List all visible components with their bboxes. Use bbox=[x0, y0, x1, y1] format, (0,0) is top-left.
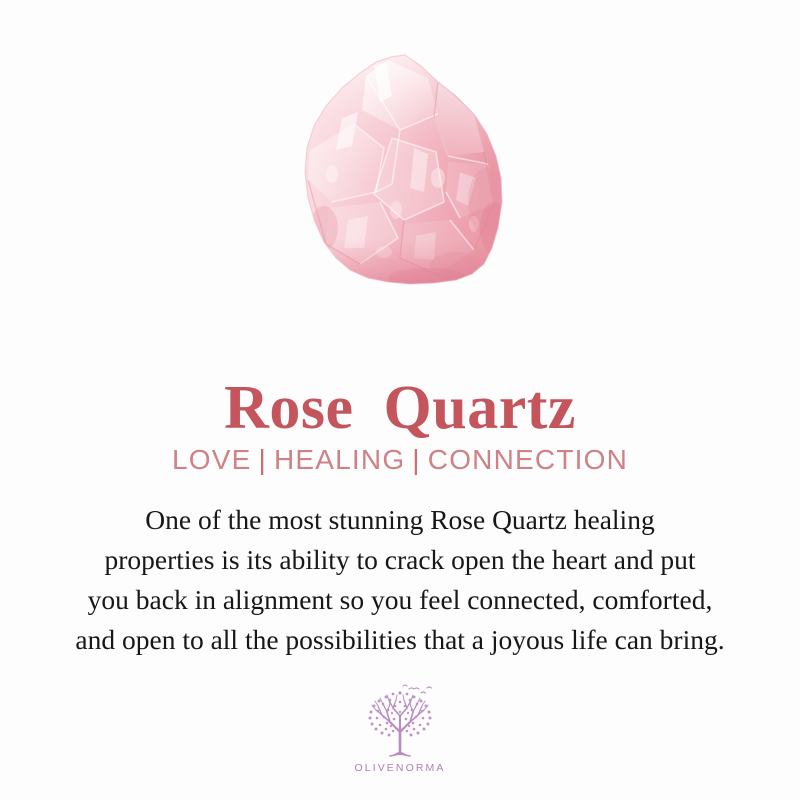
keyword-separator-2: | bbox=[405, 444, 427, 475]
tree-of-life-icon bbox=[357, 684, 443, 760]
keyword-love: LOVE bbox=[172, 444, 252, 475]
brand-wordmark: OLIVENORMA bbox=[354, 762, 445, 774]
description-line-4: and open to all the possibilities that a… bbox=[20, 620, 780, 660]
rose-quartz-crystal-image bbox=[288, 52, 512, 288]
description-line-1: One of the most stunning Rose Quartz hea… bbox=[20, 500, 780, 540]
description-text: One of the most stunning Rose Quartz hea… bbox=[20, 500, 780, 660]
product-card: Rose Quartz LOVE|HEALING|CONNECTION One … bbox=[0, 0, 800, 800]
description-line-2: properties is its ability to crack open … bbox=[20, 540, 780, 580]
page-title: Rose Quartz bbox=[0, 376, 800, 441]
keyword-separator-1: | bbox=[251, 444, 273, 475]
product-image-area bbox=[0, 0, 800, 300]
description-line-3: you back in alignment so you feel connec… bbox=[20, 580, 780, 620]
brand-logo: OLIVENORMA bbox=[0, 684, 800, 774]
keyword-subtitle: LOVE|HEALING|CONNECTION bbox=[0, 445, 800, 476]
keyword-connection: CONNECTION bbox=[428, 444, 628, 475]
keyword-healing: HEALING bbox=[274, 444, 405, 475]
